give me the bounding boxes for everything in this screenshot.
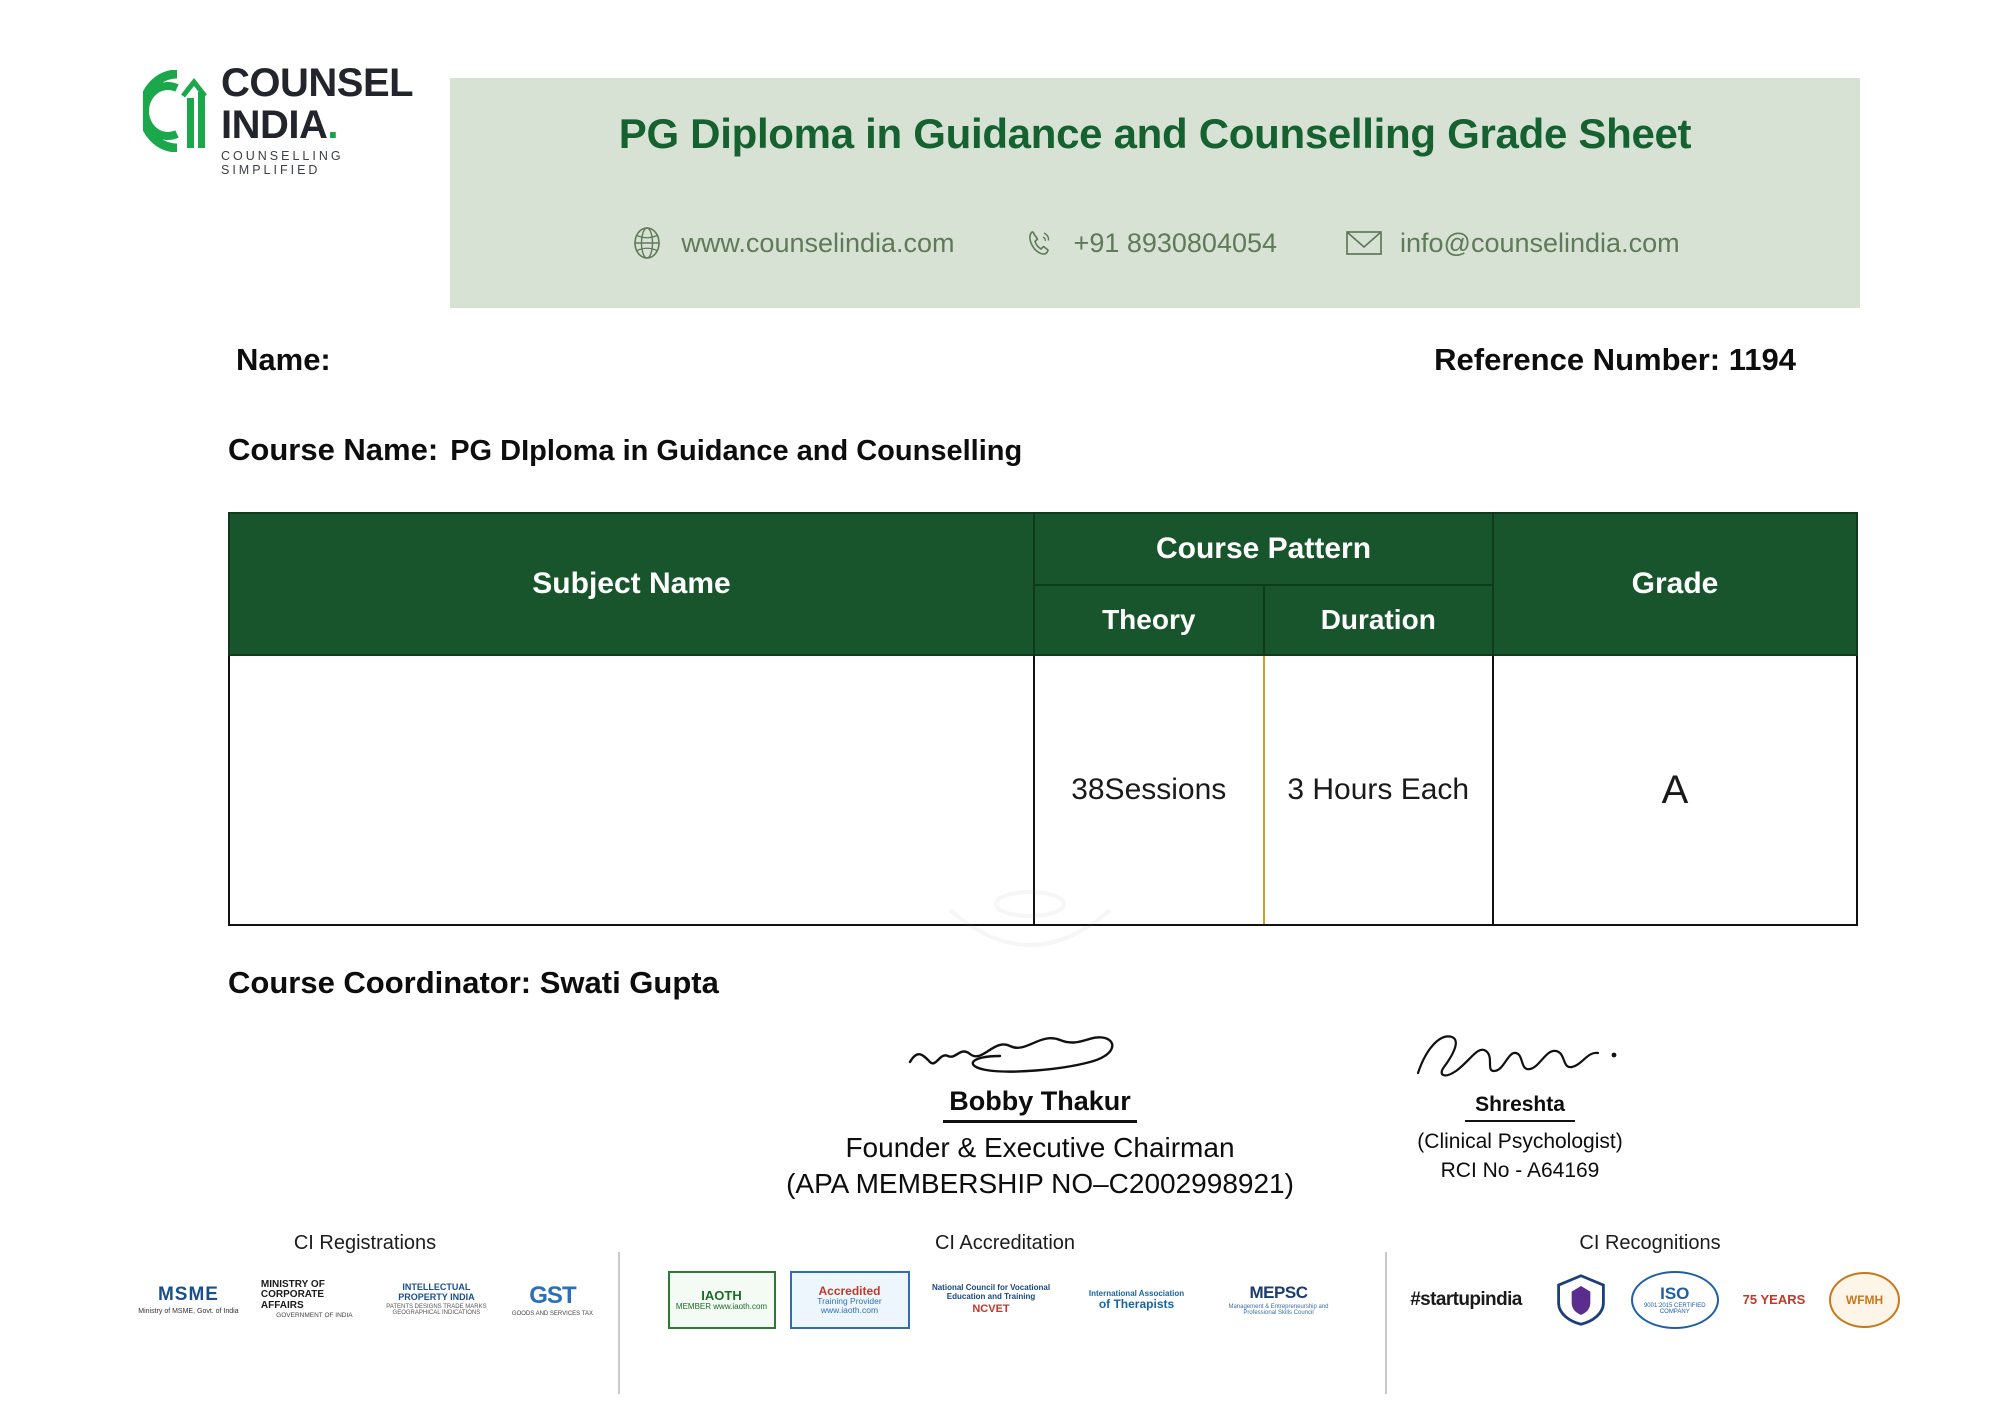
website-label: www.counselindia.com xyxy=(681,228,954,259)
signature-block-psychologist: Shreshta (Clinical Psychologist) RCI No … xyxy=(1360,1015,1680,1185)
grade-sheet-page: COUNSEL INDIA. COUNSELLING SIMPLIFIED PG… xyxy=(0,0,2000,1414)
student-info-row: Name: Reference Number: 1194 xyxy=(236,342,1796,382)
footer-accreditations: CI Registrations MSME Ministry of MSME, … xyxy=(0,1232,2000,1414)
years-logo-line1: 75 YEARS xyxy=(1743,1293,1806,1307)
signature-role: (Clinical Psychologist) xyxy=(1360,1127,1680,1157)
cell-grade: A xyxy=(1493,655,1857,925)
col-theory: Theory xyxy=(1034,585,1264,655)
table-row: 38Sessions 3 Hours Each A xyxy=(229,655,1857,925)
course-name-row: Course Name: PG DIploma in Guidance and … xyxy=(228,432,1022,472)
signature-block-founder: Bobby Thakur Founder & Executive Chairma… xyxy=(760,1012,1320,1202)
signature-membership: (APA MEMBERSHIP NO–C2002998921) xyxy=(760,1166,1320,1202)
logo-tagline: COUNSELLING SIMPLIFIED xyxy=(221,149,433,177)
ncvet-logo-line1: National Council for Vocational Educatio… xyxy=(924,1284,1059,1301)
footer-logo-strip: IAOTH MEMBER www.iaoth.com Accredited Tr… xyxy=(640,1267,1370,1333)
document-header: COUNSEL INDIA. COUNSELLING SIMPLIFIED PG… xyxy=(0,0,2000,312)
contact-row: www.counselindia.com +91 8930804054 xyxy=(450,208,1860,278)
footer-section-title: CI Recognitions xyxy=(1400,1232,1900,1255)
iat-logo-line2: of Therapists xyxy=(1099,1298,1174,1311)
col-duration: Duration xyxy=(1264,585,1494,655)
email-label: info@counselindia.com xyxy=(1400,228,1680,259)
iaoth-member-logo: IAOTH MEMBER www.iaoth.com xyxy=(668,1271,776,1329)
course-name-label: Course Name: xyxy=(228,432,438,468)
cell-subject-name xyxy=(229,655,1034,925)
course-name-value: PG DIploma in Guidance and Counselling xyxy=(450,435,1022,468)
ipi-logo-line1: INTELLECTUAL PROPERTY INDIA xyxy=(382,1283,491,1302)
mca-logo-line1: MINISTRY OF CORPORATE AFFAIRS xyxy=(261,1280,368,1312)
signature-name-underline: Shreshta xyxy=(1465,1093,1575,1122)
wfmh-logo-line1: WFMH xyxy=(1846,1294,1883,1307)
name-label: Name: xyxy=(236,342,331,378)
footer-section-title: CI Accreditation xyxy=(640,1232,1370,1255)
reference-number: Reference Number: 1194 xyxy=(1434,342,1796,378)
mca-logo-line2: GOVERNMENT OF INDIA xyxy=(276,1313,352,1320)
signature-rci-number: RCI No - A64169 xyxy=(1360,1157,1680,1185)
mepsc-logo-line2: Management & Entrepreneurship and Profes… xyxy=(1215,1304,1343,1317)
globe-icon xyxy=(630,226,664,260)
ipi-logo-line2: PATENTS DESIGNS TRADE MARKS GEOGRAPHICAL… xyxy=(382,1304,491,1317)
footer-logo-strip: MSME Ministry of MSME, Govt. of India MI… xyxy=(130,1267,600,1333)
logo-dot: . xyxy=(327,103,338,147)
footer-section-accreditation: CI Accreditation IAOTH MEMBER www.iaoth.… xyxy=(640,1232,1370,1333)
grade-table-head: Subject Name Course Pattern Grade Theory… xyxy=(229,513,1857,655)
course-coordinator: Course Coordinator: Swati Gupta xyxy=(228,965,719,1001)
startup-india-logo: #startupindia xyxy=(1400,1271,1532,1329)
phone-label: +91 8930804054 xyxy=(1074,228,1277,259)
mepsc-logo-line1: MEPSC xyxy=(1250,1284,1308,1302)
col-subject-name: Subject Name xyxy=(229,513,1034,655)
iso-certified-logo: ISO 9001:2015 CERTIFIED COMPANY xyxy=(1631,1271,1719,1329)
iso-logo-line1: ISO xyxy=(1660,1285,1689,1303)
ministry-corporate-affairs-logo: MINISTRY OF CORPORATE AFFAIRS GOVERNMENT… xyxy=(261,1271,368,1329)
logo-text-line2: INDIA. xyxy=(221,104,433,146)
accredited-training-provider-logo: Accredited Training Provider www.iaoth.c… xyxy=(790,1271,910,1329)
brand-logo: COUNSEL INDIA. COUNSELLING SIMPLIFIED xyxy=(143,62,433,177)
atp-logo-line2: Training Provider www.iaoth.com xyxy=(792,1297,908,1315)
phone-icon xyxy=(1023,226,1057,260)
mepsc-logo: MEPSC Management & Entrepreneurship and … xyxy=(1215,1271,1343,1329)
counsel-india-logo-icon xyxy=(143,70,215,152)
title-banner: PG Diploma in Guidance and Counselling G… xyxy=(450,78,1860,308)
gst-logo-line1: GST xyxy=(529,1283,575,1308)
cell-duration: 3 Hours Each xyxy=(1264,655,1494,925)
signature-role: Founder & Executive Chairman xyxy=(760,1130,1320,1166)
msme-logo-line2: Ministry of MSME, Govt. of India xyxy=(138,1308,238,1315)
footer-section-registrations: CI Registrations MSME Ministry of MSME, … xyxy=(130,1232,600,1333)
wfmh-logo: WFMH xyxy=(1829,1272,1900,1328)
footer-divider-1 xyxy=(618,1252,620,1394)
col-course-pattern: Course Pattern xyxy=(1034,513,1493,585)
col-grade: Grade xyxy=(1493,513,1857,655)
footer-divider-2 xyxy=(1385,1252,1387,1394)
niilm-logo xyxy=(1546,1271,1617,1329)
ncvet-logo-line2: NCVET xyxy=(972,1304,1009,1316)
contact-phone: +91 8930804054 xyxy=(1023,226,1277,260)
signature-name: Shreshta xyxy=(1475,1093,1565,1116)
iaoth-logo-line2: MEMBER www.iaoth.com xyxy=(676,1303,767,1311)
iaoth-logo-line1: IAOTH xyxy=(701,1289,741,1303)
international-association-of-therapists-logo: International Association of Therapists xyxy=(1073,1271,1201,1329)
intellectual-property-india-logo: INTELLECTUAL PROPERTY INDIA PATENTS DESI… xyxy=(382,1271,491,1329)
handwritten-signature-icon xyxy=(1360,1015,1680,1093)
logo-text-line1: COUNSEL xyxy=(221,62,433,104)
ncvet-logo: National Council for Vocational Educatio… xyxy=(924,1271,1059,1329)
footer-logo-strip: #startupindia ISO 9001:2015 CERTIFIED CO… xyxy=(1400,1267,1900,1333)
handwritten-signature-icon xyxy=(760,1012,1320,1084)
startupindia-logo-line1: #startupindia xyxy=(1410,1290,1522,1310)
msme-logo: MSME Ministry of MSME, Govt. of India xyxy=(130,1271,247,1329)
contact-email: info@counselindia.com xyxy=(1345,228,1680,259)
gst-logo: GST GOODS AND SERVICES TAX xyxy=(505,1271,600,1329)
75-years-logo: 75 YEARS xyxy=(1733,1271,1815,1329)
grade-table: Subject Name Course Pattern Grade Theory… xyxy=(228,512,1858,926)
gst-logo-line2: GOODS AND SERVICES TAX xyxy=(512,1311,593,1317)
msme-logo-line1: MSME xyxy=(158,1285,219,1305)
iso-logo-line2: 9001:2015 CERTIFIED COMPANY xyxy=(1633,1303,1717,1316)
cell-theory: 38Sessions xyxy=(1034,655,1264,925)
envelope-icon xyxy=(1345,228,1383,258)
contact-website: www.counselindia.com xyxy=(630,226,954,260)
grade-table-body: 38Sessions 3 Hours Each A xyxy=(229,655,1857,925)
signature-name: Bobby Thakur xyxy=(949,1086,1131,1116)
footer-section-title: CI Registrations xyxy=(130,1232,600,1255)
page-title: PG Diploma in Guidance and Counselling G… xyxy=(450,110,1860,158)
table-header-row-1: Subject Name Course Pattern Grade xyxy=(229,513,1857,585)
footer-section-recognitions: CI Recognitions #startupindia ISO 9001:2… xyxy=(1400,1232,1900,1333)
signature-name-underline: Bobby Thakur xyxy=(943,1086,1137,1123)
